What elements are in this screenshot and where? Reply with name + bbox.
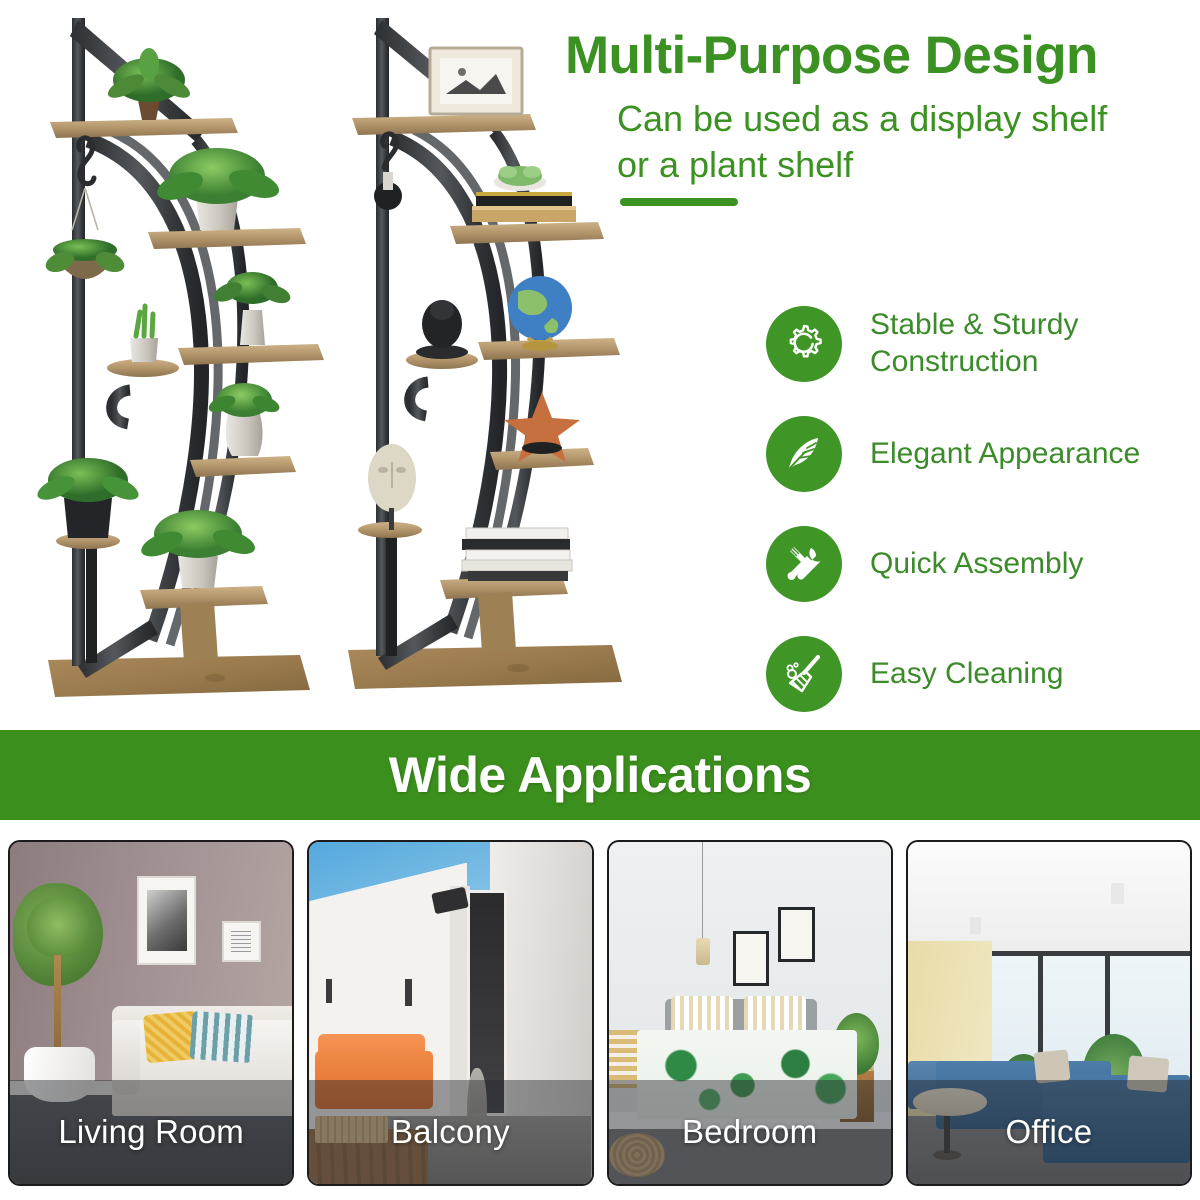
tile-label: Office <box>1005 1113 1092 1151</box>
tile-caption: Office <box>908 1080 1190 1184</box>
application-tile-balcony[interactable]: Balcony <box>307 840 593 1186</box>
feature-label: Elegant Appearance <box>870 436 1140 473</box>
feature-list: Stable & Sturdy Construction Elegant App… <box>766 306 1186 712</box>
feature-label: Quick Assembly <box>870 546 1083 583</box>
tile-caption: Living Room <box>10 1080 292 1184</box>
headline-block: Multi-Purpose Design Can be used as a di… <box>565 28 1185 206</box>
page-subtitle: Can be used as a display shelf or a plan… <box>617 96 1127 188</box>
tile-caption: Bedroom <box>609 1080 891 1184</box>
product-infographic: Multi-Purpose Design Can be used as a di… <box>0 0 1200 1200</box>
application-tiles: Living Room Balcony <box>0 840 1200 1192</box>
page-title: Multi-Purpose Design <box>565 28 1185 84</box>
banner-title: Wide Applications <box>389 746 812 804</box>
top-section: Multi-Purpose Design Can be used as a di… <box>0 0 1200 728</box>
tile-caption: Balcony <box>309 1080 591 1184</box>
plant-shelf-unit <box>34 18 324 697</box>
feature-label: Stable & Sturdy Construction <box>870 307 1170 380</box>
application-tile-living-room[interactable]: Living Room <box>8 840 294 1186</box>
gear-icon <box>766 306 842 382</box>
broom-icon <box>766 636 842 712</box>
title-underline <box>620 198 738 206</box>
tile-label: Living Room <box>58 1113 244 1151</box>
tile-label: Balcony <box>391 1113 510 1151</box>
feature-item-quick-assembly: Quick Assembly <box>766 526 1186 602</box>
feature-item-elegant-appearance: Elegant Appearance <box>766 416 1186 492</box>
feature-item-stable-sturdy: Stable & Sturdy Construction <box>766 306 1186 382</box>
application-tile-bedroom[interactable]: Bedroom <box>607 840 893 1186</box>
wide-applications-banner: Wide Applications <box>0 730 1200 820</box>
application-tile-office[interactable]: Office <box>906 840 1192 1186</box>
tools-icon <box>766 526 842 602</box>
feature-label: Easy Cleaning <box>870 656 1063 693</box>
feature-item-easy-cleaning: Easy Cleaning <box>766 636 1186 712</box>
tile-label: Bedroom <box>682 1113 817 1151</box>
feather-icon <box>766 416 842 492</box>
